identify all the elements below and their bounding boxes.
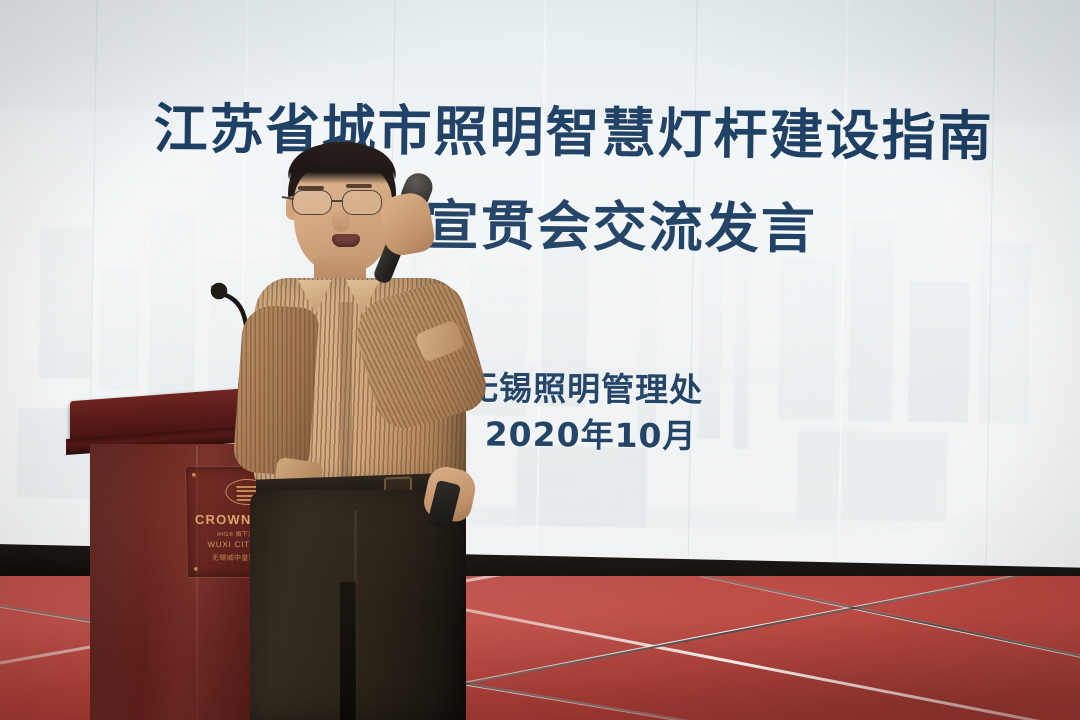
shirt-placket bbox=[340, 302, 352, 482]
speaker-nose bbox=[332, 210, 350, 232]
speaker-mouth bbox=[332, 234, 360, 247]
speaker bbox=[236, 130, 536, 720]
speaker-brow-right bbox=[346, 184, 372, 188]
conference-photo: 江苏省城市照明智慧灯杆建设指南 宣贯会交流发言 无锡照明管理处 2020年10月 bbox=[0, 0, 1080, 720]
speaker-arm-left bbox=[232, 304, 320, 477]
